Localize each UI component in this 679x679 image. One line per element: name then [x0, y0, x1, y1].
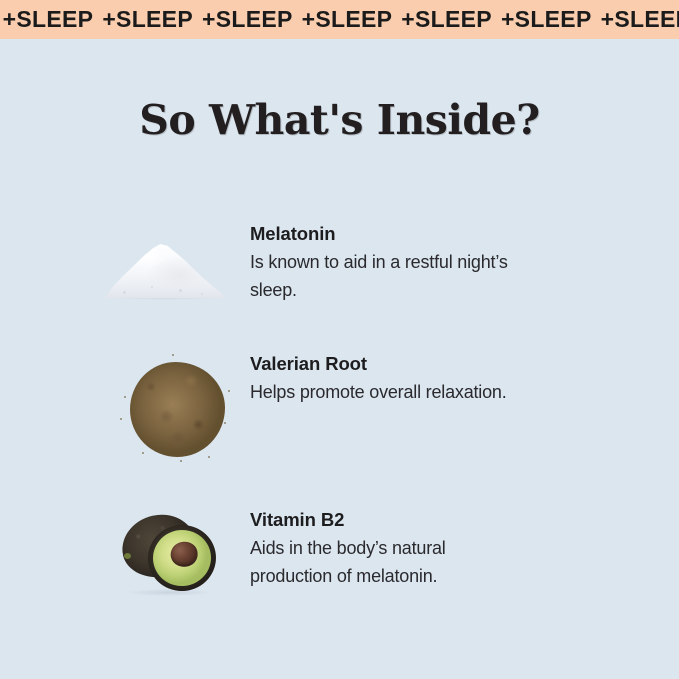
powder-mound: [105, 240, 225, 298]
granule-fleck: [224, 422, 226, 424]
valerian-root-granules-image: [100, 352, 250, 452]
ingredient-text-block: Valerian Root Helps promote overall rela…: [250, 352, 620, 407]
ingredients-infographic-page: P+SLEEP+SLEEP+SLEEP+SLEEP+SLEEP+SLEEP+SL…: [0, 0, 679, 679]
avocado-image: [100, 508, 250, 608]
granule-fleck: [228, 390, 230, 392]
avocado-shadow: [126, 589, 212, 596]
avocado-stem: [124, 553, 131, 559]
avocado-graphic: [120, 513, 218, 595]
avocado-flesh: [150, 527, 214, 589]
ingredient-description: Is known to aid in a restful night’s sle…: [250, 249, 515, 305]
ingredient-list: Melatonin Is known to aid in a restful n…: [0, 0, 679, 679]
powder-speck: [151, 286, 153, 288]
ingredient-name: Melatonin: [250, 222, 620, 245]
granule-fleck: [120, 418, 122, 420]
white-powder-pile-image: [100, 222, 250, 322]
granule-mound: [130, 362, 225, 457]
ingredient-description: Helps promote overall relaxation.: [250, 379, 580, 407]
avocado-pit: [169, 540, 198, 568]
powder-pile-graphic: [105, 238, 225, 298]
ingredient-description: Aids in the body’s natural production of…: [250, 535, 515, 591]
granule-fleck: [142, 452, 144, 454]
powder-speck: [201, 293, 203, 295]
granule-fleck: [180, 460, 182, 462]
granule-mound-graphic: [128, 360, 228, 460]
powder-speck: [123, 291, 126, 294]
powder-speck: [179, 289, 182, 292]
ingredient-text-block: Vitamin B2 Aids in the body’s natural pr…: [250, 508, 620, 591]
granule-fleck: [172, 354, 174, 356]
ingredient-text-block: Melatonin Is known to aid in a restful n…: [250, 222, 620, 305]
ingredient-name: Vitamin B2: [250, 508, 620, 531]
granule-fleck: [124, 396, 126, 398]
granule-fleck: [208, 456, 210, 458]
ingredient-name: Valerian Root: [250, 352, 620, 375]
